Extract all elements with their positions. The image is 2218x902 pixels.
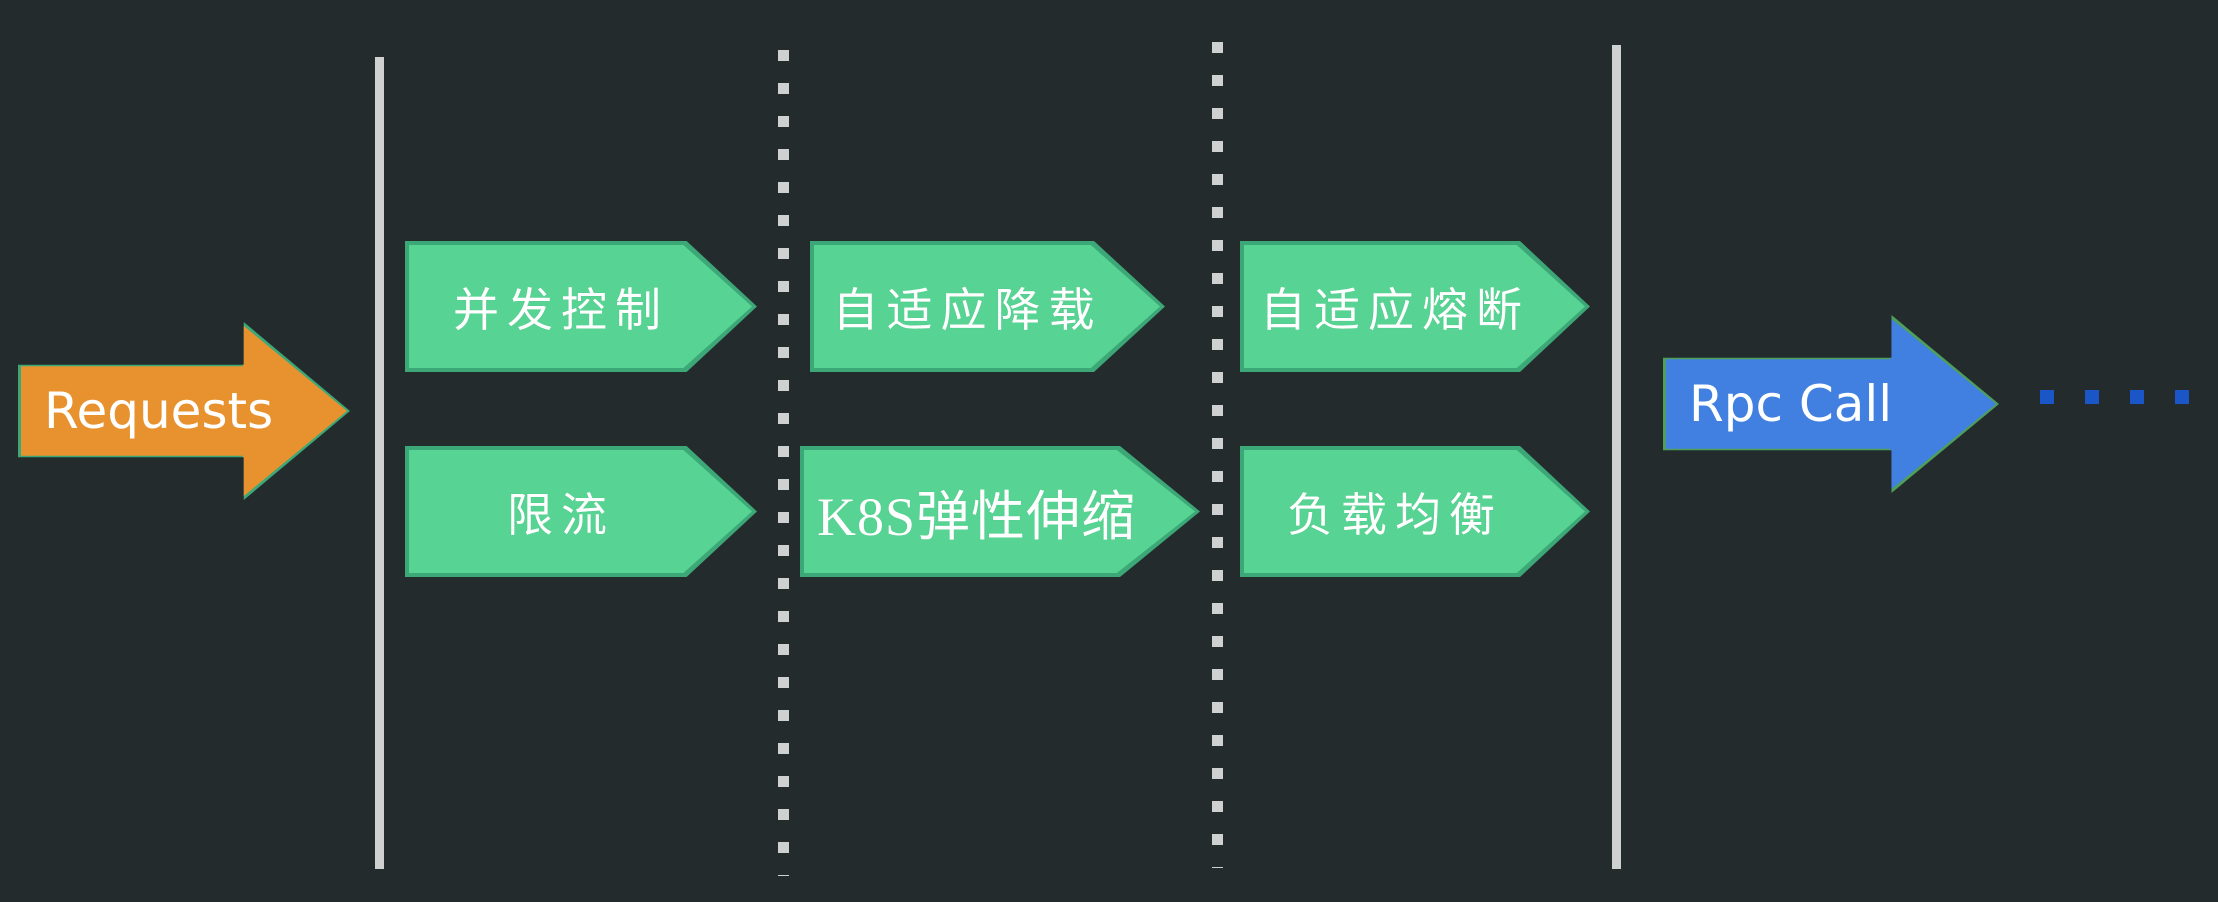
requests-arrow-label: Requests [18, 382, 273, 440]
stage-2-bottom-arrow-label: K8S弹性伸缩 [816, 472, 1136, 551]
stage-3-bottom-arrow[interactable]: 负载均衡 [1240, 446, 1590, 577]
rpc-call-arrow-label: Rpc Call [1663, 375, 1892, 433]
continuation-dot [2175, 390, 2189, 404]
lane-divider-dotted-2 [1212, 42, 1223, 868]
stage-2-bottom-arrow[interactable]: K8S弹性伸缩 [800, 446, 1200, 577]
continuation-dot [2130, 390, 2144, 404]
lane-divider-solid-right [1612, 45, 1621, 869]
lane-divider-dotted-1 [778, 50, 789, 876]
continuation-dot [2085, 390, 2099, 404]
stage-2-top-arrow[interactable]: 自适应降载 [810, 241, 1165, 372]
requests-arrow[interactable]: Requests [18, 322, 350, 500]
diagram-canvas: Requests 并发控制 限流 自适应降载 K8S弹性伸缩 自适应熔断 负载均… [0, 0, 2218, 902]
continuation-dots [2040, 390, 2218, 404]
stage-1-top-arrow-label: 并发控制 [445, 274, 669, 340]
stage-2-top-arrow-label: 自适应降载 [825, 274, 1103, 340]
stage-1-bottom-arrow-label: 限流 [499, 479, 615, 545]
stage-3-top-arrow-label: 自适应熔断 [1252, 274, 1530, 340]
stage-3-bottom-arrow-label: 负载均衡 [1279, 479, 1503, 545]
continuation-dot [2040, 390, 2054, 404]
stage-1-bottom-arrow[interactable]: 限流 [405, 446, 757, 577]
rpc-call-arrow[interactable]: Rpc Call [1663, 315, 1999, 493]
lane-divider-solid-left [375, 57, 384, 869]
stage-1-top-arrow[interactable]: 并发控制 [405, 241, 757, 372]
stage-3-top-arrow[interactable]: 自适应熔断 [1240, 241, 1590, 372]
